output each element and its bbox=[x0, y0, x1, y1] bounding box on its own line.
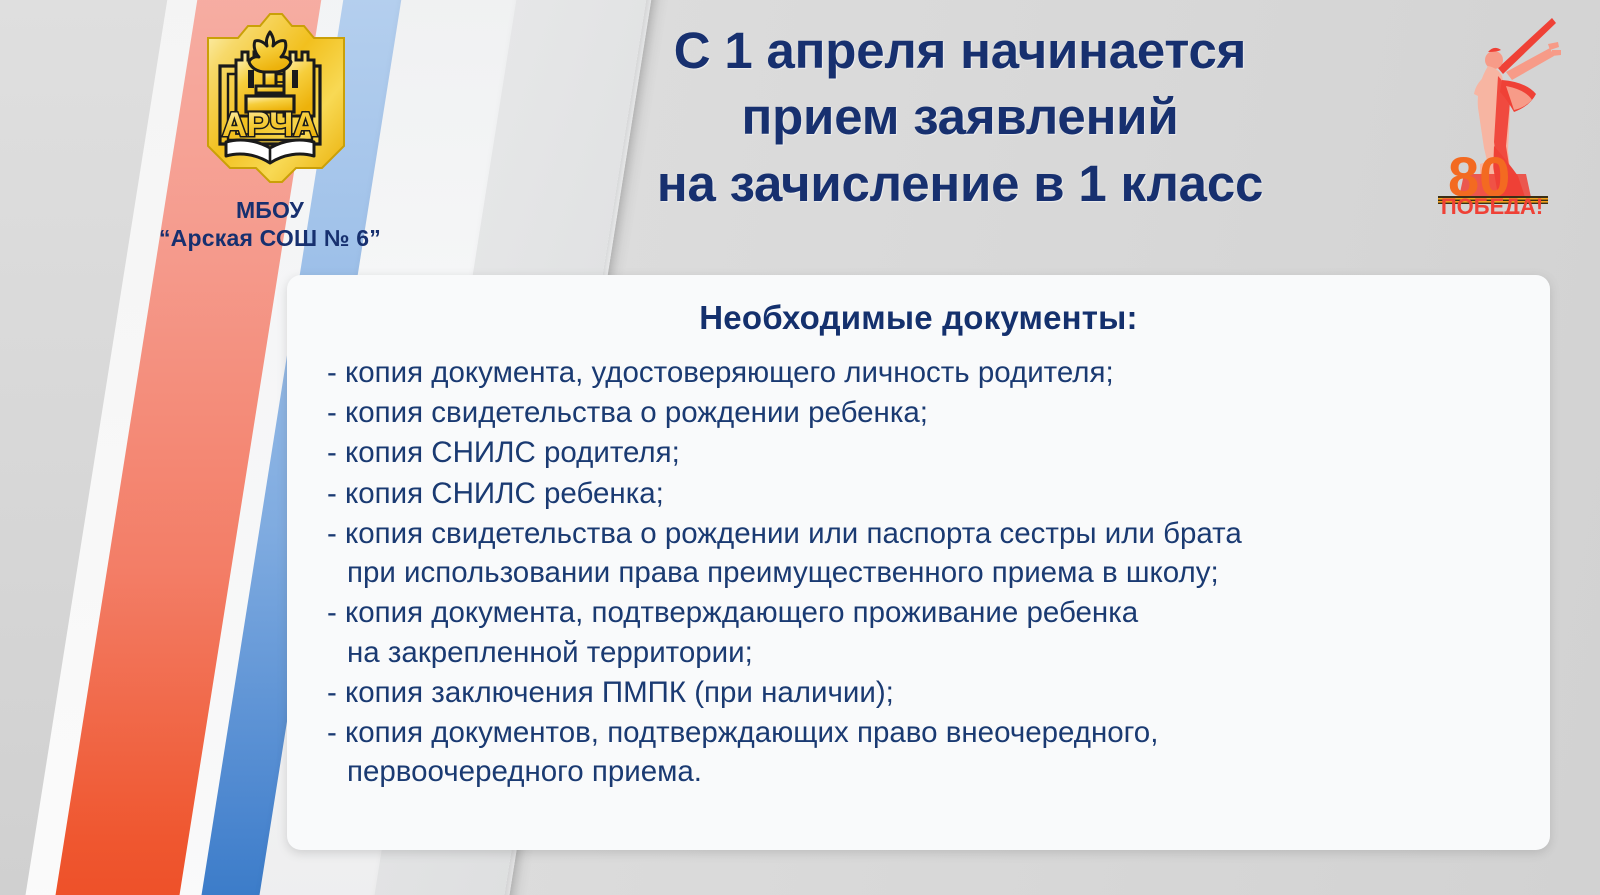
slide-canvas: АРЧА МБОУ “Арская СОШ № 6” С 1 апреля на… bbox=[0, 0, 1600, 895]
document-item: - копия документа, подтверждающего прожи… bbox=[327, 593, 1524, 671]
documents-list: - копия документа, удостоверяющего лично… bbox=[313, 353, 1524, 792]
title-line-2: прием заявлений bbox=[545, 84, 1375, 150]
document-item: - копия документа, удостоверяющего лично… bbox=[327, 353, 1524, 392]
title-line-3: на зачисление в 1 класс bbox=[545, 151, 1375, 217]
documents-card: Необходимые документы: - копия документа… bbox=[287, 275, 1550, 850]
school-logo-block: АРЧА МБОУ “Арская СОШ № 6” bbox=[120, 12, 420, 252]
document-item: - копия СНИЛС родителя; bbox=[327, 433, 1524, 472]
announcement-title: С 1 апреля начинается прием заявлений на… bbox=[545, 18, 1375, 217]
document-item: - копия заключения ПМПК (при наличии); bbox=[327, 673, 1524, 712]
school-crest-icon: АРЧА bbox=[186, 12, 354, 190]
victory-80-emblem-icon: 80 ПОБЕДА! bbox=[1402, 14, 1582, 214]
school-name-line2: “Арская СОШ № 6” bbox=[159, 225, 381, 251]
school-name-line1: МБОУ bbox=[236, 197, 304, 223]
victory-word: ПОБЕДА! bbox=[1441, 194, 1543, 214]
document-item: - копия свидетельства о рождении или пас… bbox=[327, 514, 1524, 592]
documents-heading: Необходимые документы: bbox=[313, 299, 1524, 337]
title-line-1: С 1 апреля начинается bbox=[545, 18, 1375, 84]
document-item: - копия СНИЛС ребенка; bbox=[327, 474, 1524, 513]
document-item: - копия свидетельства о рождении ребенка… bbox=[327, 393, 1524, 432]
document-item: - копия документов, подтверждающих право… bbox=[327, 713, 1524, 791]
school-name: МБОУ “Арская СОШ № 6” bbox=[120, 196, 420, 252]
crest-wordmark: АРЧА bbox=[222, 106, 318, 144]
